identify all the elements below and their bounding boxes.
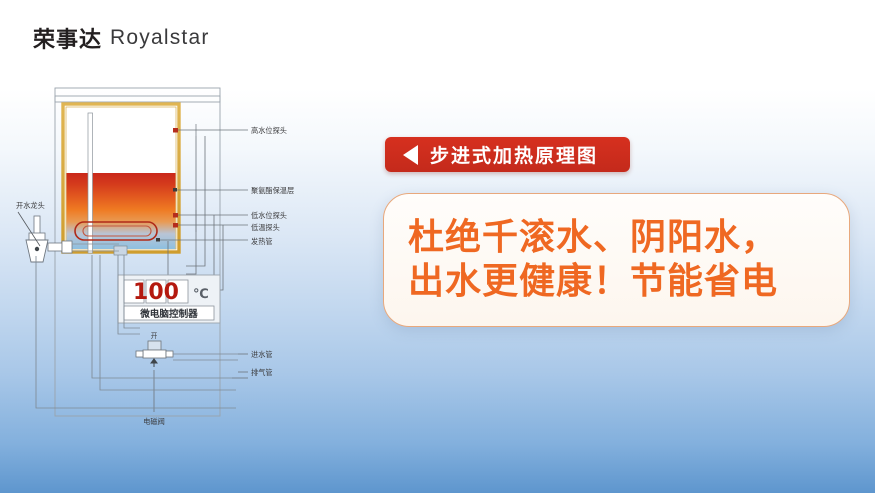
- label-inlet-pipe: 进水管: [251, 350, 273, 359]
- label-faucet: 开水龙头: [16, 201, 45, 210]
- label-low-level-probe: 低水位探头: [251, 211, 287, 220]
- controller-caption: 微电脑控制器: [139, 308, 198, 320]
- slide-canvas: 荣事达 Royalstar: [0, 0, 875, 493]
- label-insulation: 聚氨酯保温层: [251, 186, 294, 195]
- section-banner: 步进式加热原理图: [385, 137, 630, 172]
- label-solenoid-valve: 电磁阀: [143, 417, 165, 426]
- tank-bottom-port: [114, 246, 127, 255]
- triangle-left-icon: [403, 145, 418, 165]
- label-low-temp-probe: 低温探头: [251, 223, 280, 232]
- label-high-level-probe: 高水位探头: [251, 126, 287, 135]
- label-exhaust-pipe: 排气管: [251, 368, 273, 377]
- headline-line-1: 杜绝千滚水、阴阳水，: [408, 216, 825, 260]
- standpipe: [88, 113, 93, 253]
- cabinet-top-strip: [55, 88, 220, 102]
- label-heating-tube: 发热管: [251, 237, 273, 246]
- brand-name-en: Royalstar: [110, 26, 210, 50]
- water-body: [67, 173, 176, 249]
- low-level-probe-marker: [173, 213, 178, 218]
- valve-flow-arrow: [151, 359, 157, 367]
- valve-state-label: 开: [151, 332, 158, 340]
- controller-value: 100: [133, 280, 179, 305]
- low-temp-probe-marker: [173, 223, 178, 228]
- insulation-marker: [173, 188, 177, 192]
- solenoid-valve-symbol: [136, 341, 173, 358]
- section-banner-title: 步进式加热原理图: [430, 141, 598, 168]
- heating-tube-marker: [156, 238, 160, 242]
- headline-line-2: 出水更健康！节能省电: [408, 260, 825, 304]
- brand-logo: 荣事达 Royalstar: [33, 22, 210, 54]
- high-level-probe-marker: [173, 128, 178, 133]
- brand-name-cn: 荣事达: [33, 22, 102, 54]
- controller-panel: 100 ℃ 微电脑控制器: [118, 275, 220, 323]
- headline-card: 杜绝千滚水、阴阳水， 出水更健康！节能省电: [383, 193, 850, 327]
- heating-principle-diagram: 开水龙头 高水位探头 聚氨酯保温层 低水位探头 低温探头 发热管: [0, 60, 380, 480]
- controller-unit: ℃: [193, 287, 209, 302]
